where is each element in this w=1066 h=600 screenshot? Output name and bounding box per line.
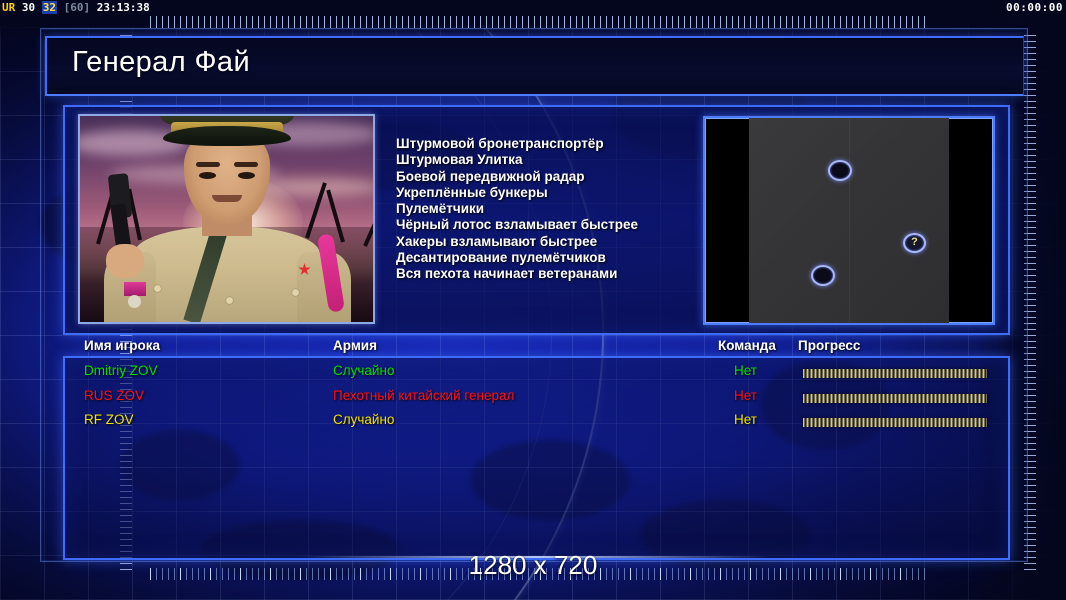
player-army[interactable]: Случайно (333, 363, 394, 378)
game-lobby-screen: UR 30 32 [60] 23:13:38 00:00:00 Генерал … (0, 0, 1066, 600)
portrait-button (154, 285, 161, 292)
player-name[interactable]: RUS ZOV (84, 388, 144, 403)
portrait-cap-brim (163, 126, 291, 146)
player-team[interactable]: Нет (734, 388, 757, 403)
ability-item: Вся пехота начинает ветеранами (396, 266, 696, 282)
status-clock: 23:13:38 (97, 1, 150, 14)
portrait-eye (238, 172, 255, 179)
ability-item: Пулемётчики (396, 201, 696, 217)
ability-item: Чёрный лотос взламывает быстрее (396, 217, 696, 233)
map-start-position-marker[interactable] (828, 160, 852, 181)
table-row[interactable]: RF ZOV Случайно Нет (0, 412, 1066, 437)
player-team[interactable]: Нет (734, 412, 757, 427)
portrait-cloud (250, 178, 375, 196)
table-row[interactable]: RUS ZOV Пехотный китайский генерал Нет (0, 388, 1066, 413)
portrait-eye (199, 172, 216, 179)
ability-item: Штурмовая Улитка (396, 152, 696, 168)
column-header-progress: Прогресс (798, 338, 860, 353)
question-mark-icon: ? (905, 234, 924, 250)
ability-item: Укреплённые бункеры (396, 185, 696, 201)
column-header-player-name: Имя игрока (84, 338, 160, 353)
status-bar-left: UR 30 32 [60] 23:13:38 (2, 0, 150, 15)
player-army[interactable]: Пехотный китайский генерал (333, 388, 514, 403)
map-start-position-marker-unknown[interactable]: ? (903, 233, 926, 253)
player-list-header: Имя игрока Армия Команда Прогресс (0, 338, 1066, 360)
map-playfield (749, 118, 949, 323)
player-name[interactable]: RF ZOV (84, 412, 134, 427)
map-preview[interactable]: ? (703, 116, 995, 325)
player-team[interactable]: Нет (734, 363, 757, 378)
player-progress-bar (803, 394, 987, 403)
general-abilities-list: Штурмовой бронетранспортёр Штурмовая Ули… (396, 136, 696, 283)
portrait-brow (234, 162, 258, 167)
ability-item: Боевой передвижной радар (396, 169, 696, 185)
portrait-uniform (134, 226, 319, 322)
status-value-2: 32 (42, 1, 57, 14)
portrait-mouth (212, 195, 242, 202)
map-start-position-marker[interactable] (811, 265, 835, 286)
status-label: UR (2, 1, 15, 14)
ruler-top (150, 16, 930, 28)
player-list-rows: Dmitriy ZOV Случайно Нет RUS ZOV Пехотны… (0, 363, 1066, 437)
resolution-label: 1280 x 720 (0, 550, 1066, 581)
player-progress-bar (803, 369, 987, 378)
column-header-army: Армия (333, 338, 377, 353)
status-bracket: [60] (64, 1, 91, 14)
player-name[interactable]: Dmitriy ZOV (84, 363, 158, 378)
column-header-team: Команда (718, 338, 776, 353)
portrait-brow (196, 162, 220, 167)
ability-item: Штурмовой бронетранспортёр (396, 136, 696, 152)
general-portrait (78, 114, 375, 324)
status-timer: 00:00:00 (1006, 0, 1063, 15)
player-army[interactable]: Случайно (333, 412, 394, 427)
status-bar: UR 30 32 [60] 23:13:38 00:00:00 (0, 0, 1066, 15)
page-title: Генерал Фай (72, 46, 250, 79)
player-progress-bar (803, 418, 987, 427)
table-row[interactable]: Dmitriy ZOV Случайно Нет (0, 363, 1066, 388)
portrait-hand (106, 244, 144, 278)
ability-item: Хакеры взламывают быстрее (396, 234, 696, 250)
ability-item: Десантирование пулемётчиков (396, 250, 696, 266)
portrait-button (226, 297, 233, 304)
status-value-1: 30 (22, 1, 35, 14)
portrait-button (292, 289, 299, 296)
